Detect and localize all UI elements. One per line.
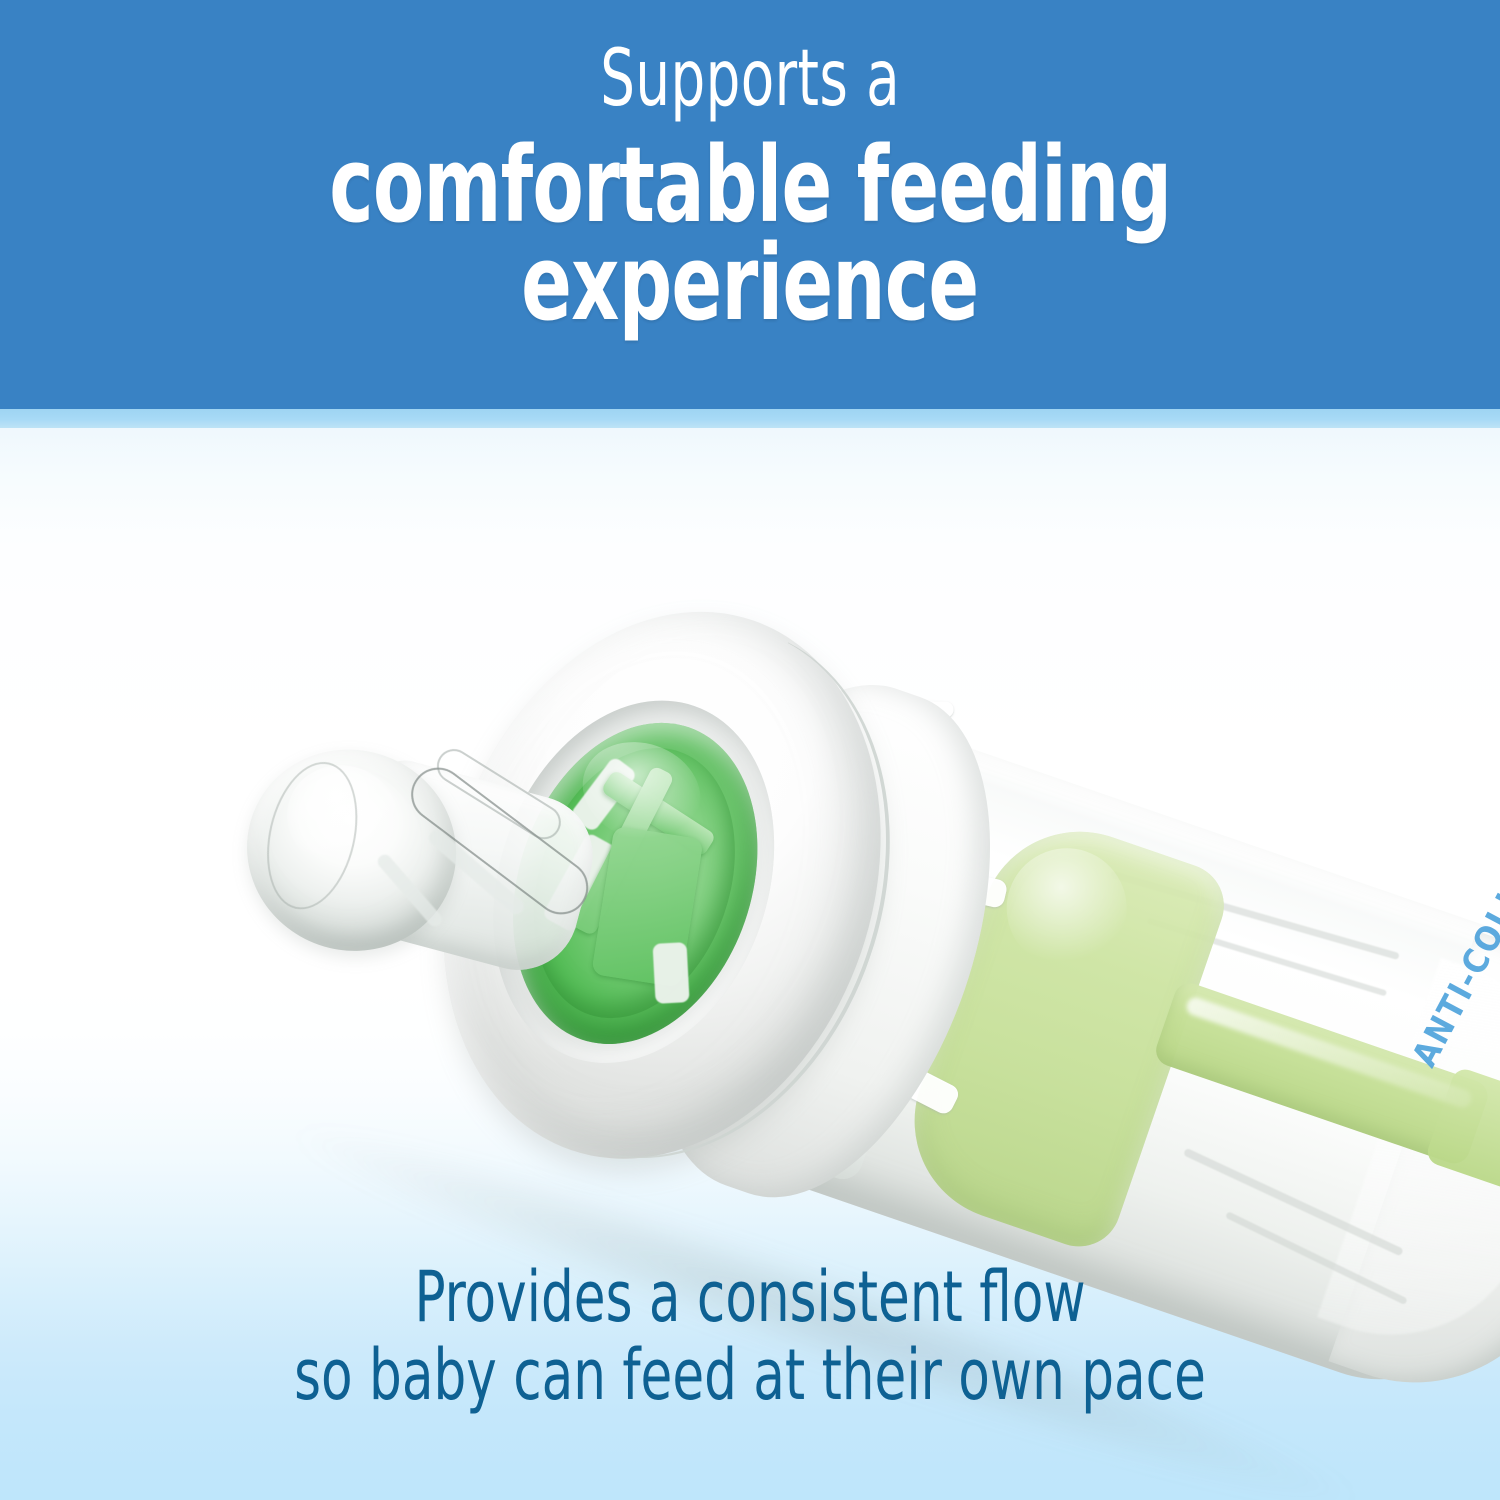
product-feature-image: Supports a comfortable feeding experienc… (0, 0, 1500, 1500)
header-banner: Supports a comfortable feeding experienc… (0, 0, 1500, 409)
banner-divider (0, 409, 1500, 428)
headline-line-light: Supports a (600, 42, 900, 118)
bottom-caption: Provides a consistent flow so baby can f… (0, 1258, 1500, 1415)
caption-line-2: so baby can feed at their own pace (135, 1336, 1365, 1414)
caption-line-1: Provides a consistent flow (135, 1258, 1365, 1336)
headline-line-bold-2: experience (521, 230, 978, 336)
valve-aperture-slot (653, 942, 690, 1004)
